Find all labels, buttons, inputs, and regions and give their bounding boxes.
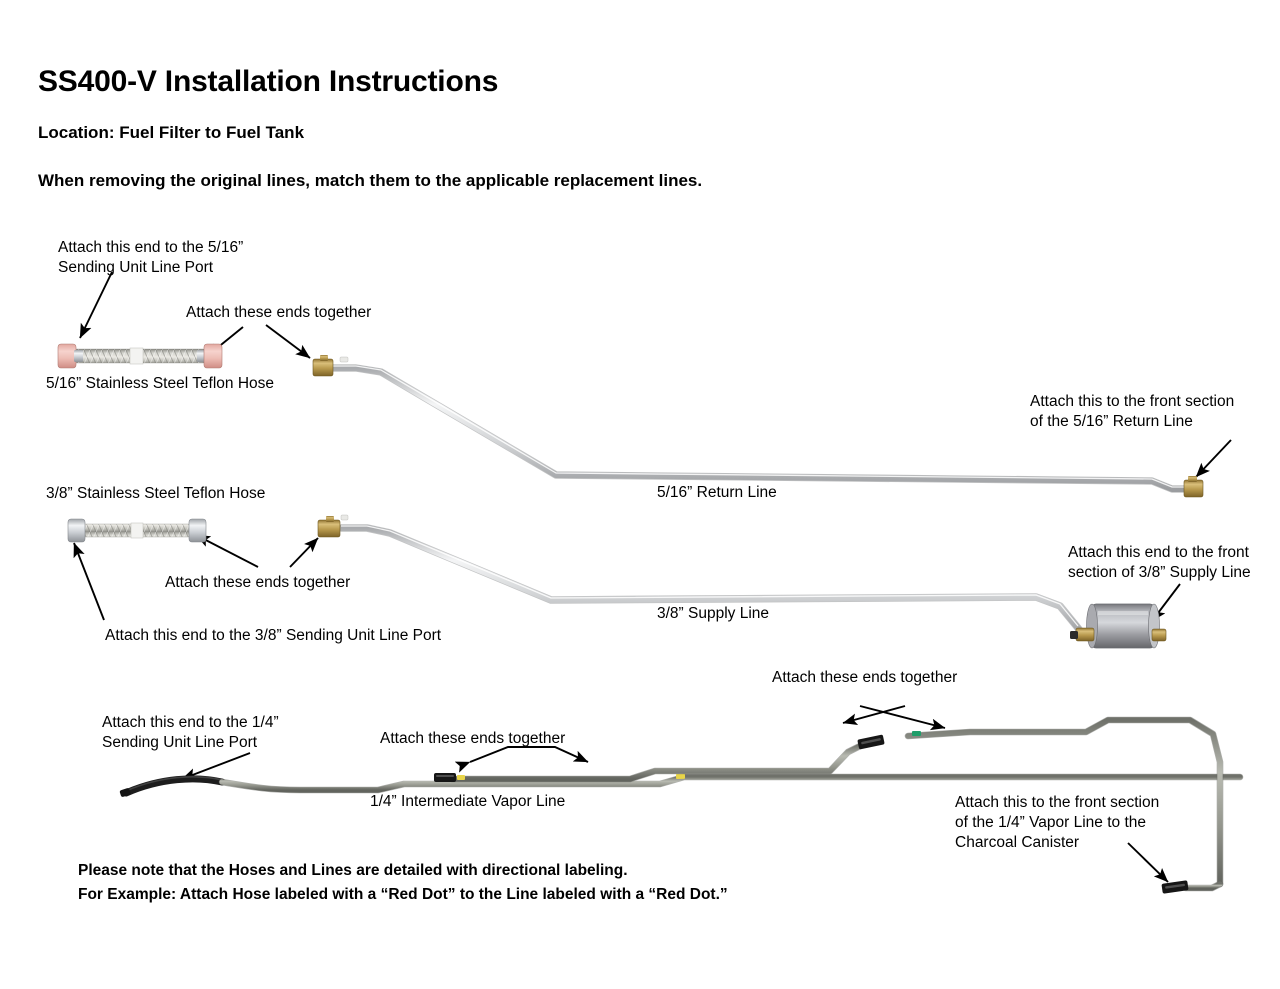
braided-hose-icon-38 [68,519,206,542]
hex-fitting-icon-38-left [68,519,85,542]
label-38-supply-line: 3/8” Supply Line [657,604,769,624]
line-label-38-supply [341,515,348,520]
hex-fitting-icon-516-left [58,344,76,368]
annotation-attach-38-front-supply: Attach this end to the front section of … [1068,543,1253,583]
arrow-icon-38-port [74,543,104,620]
annotation-attach-ends-together-4: Attach these ends together [772,668,957,688]
connector-icon-vapor-canister-end [1161,880,1188,894]
connector-icon-vapor-left-tip [119,788,131,798]
arrow-icon-ends4-right [860,706,945,728]
annotation-attach-38-sending-port: Attach this end to the 3/8” Sending Unit… [105,626,441,646]
label-516-return-line: 5/16” Return Line [657,483,777,503]
label-38-stainless-hose: 3/8” Stainless Steel Teflon Hose [46,484,265,504]
fuel-filter-canister-icon [1070,604,1166,648]
page-title: SS400-V Installation Instructions [38,62,498,101]
hose-label-38 [131,523,143,538]
annotation-attach-516-front-return: Attach this to the front section of the … [1030,392,1239,432]
hex-fitting-icon-return-right [1184,476,1203,497]
marker-yellow-vapor-left [676,774,685,779]
arrow-icon-516-port [80,272,112,338]
arrow-icon-ends2-right [290,538,318,567]
hex-fitting-icon-filter-inlet [1070,628,1094,641]
label-516-stainless-hose: 5/16” Stainless Steel Teflon Hose [46,374,274,394]
footer-note: Please note that the Hoses and Lines are… [78,859,728,907]
connector-icon-vapor-mid-left [434,773,456,782]
label-14-intermediate-vapor-line: 1/4” Intermediate Vapor Line [370,792,565,812]
arrow-icon-14-port [182,753,250,779]
arrow-icon-38-front [1152,584,1180,621]
connector-icon-vapor-mid-right [857,734,885,749]
hex-fitting-icon-38-right [189,519,206,542]
arrow-icon-ends4-left [843,706,905,723]
intro-instruction: When removing the original lines, match … [38,170,702,192]
arrow-icon-ends2-left [196,535,258,567]
hose-label-516 [130,348,143,364]
footer-note-line-2: For Example: Attach Hose labeled with a … [78,886,728,903]
annotation-attach-ends-together-2: Attach these ends together [165,573,350,593]
braided-hose-icon-516 [58,344,222,368]
arrow-icon-516-front [1196,440,1231,477]
annotation-attach-ends-together-1: Attach these ends together [186,303,371,323]
annotation-attach-516-sending-port: Attach this end to the 5/16” Sending Uni… [58,238,248,278]
hex-fitting-icon-516-right [204,344,222,368]
arrow-icon-ends1-right [266,325,310,358]
line-label-516-return [340,357,348,362]
hex-fitting-icon-supply-left [318,516,340,537]
annotation-attach-ends-together-3: Attach these ends together [380,729,565,749]
hex-fitting-icon-return-left [313,355,333,376]
marker-green-vapor-right [912,731,921,736]
location-subtitle: Location: Fuel Filter to Fuel Tank [38,122,304,144]
footer-note-line-1: Please note that the Hoses and Lines are… [78,862,628,879]
annotation-attach-14-sending-port: Attach this end to the 1/4” Sending Unit… [102,713,283,753]
annotation-attach-14-front-canister: Attach this to the front section of the … [955,793,1164,853]
hex-fitting-icon-filter-outlet [1152,629,1166,641]
marker-yellow-vapor-mid [457,775,465,780]
arrow-icon-ends3-double [470,747,588,762]
installation-instructions-page: SS400-V Installation Instructions Locati… [0,0,1280,989]
arrow-icon-ends1-left [206,327,243,357]
rubber-hose-icon-vapor-left [126,779,222,793]
